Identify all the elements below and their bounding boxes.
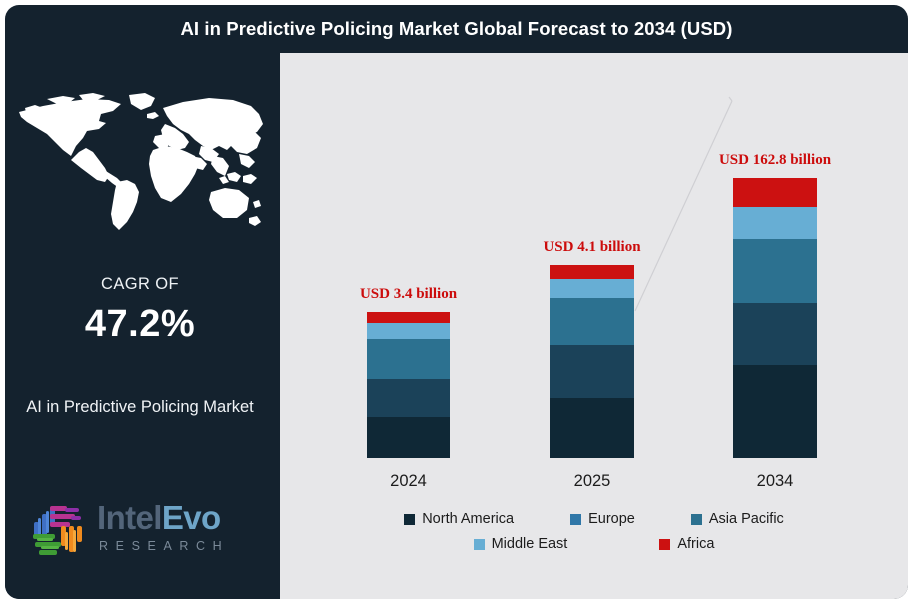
legend-label: Africa	[677, 536, 714, 552]
world-map-icon	[13, 90, 267, 238]
intelevo-pinwheel-logo-icon	[21, 494, 93, 566]
legend-label: Europe	[588, 511, 635, 527]
bar-segment-north-america[interactable]	[550, 398, 634, 458]
cagr-value: 47.2%	[5, 303, 275, 346]
logo: IntelEvo RESEARCH	[19, 490, 267, 570]
legend: North AmericaEuropeAsia PacificMiddle Ea…	[280, 511, 908, 561]
legend-swatch-icon	[570, 514, 581, 525]
logo-wordmark: IntelEvo	[97, 500, 221, 536]
bar-group-2024: USD 3.4 billion2024	[367, 312, 450, 458]
bar-stack	[550, 265, 634, 458]
bar-segment-middle-east[interactable]	[550, 279, 634, 298]
bar-segment-north-america[interactable]	[733, 365, 817, 458]
bar-segment-north-america[interactable]	[367, 417, 450, 458]
logo-word-evo: Evo	[162, 499, 221, 536]
bar-segment-europe[interactable]	[550, 345, 634, 398]
legend-swatch-icon	[474, 539, 485, 550]
page-title: AI in Predictive Policing Market Global …	[5, 18, 908, 40]
legend-swatch-icon	[659, 539, 670, 550]
legend-item-europe[interactable]: Europe	[570, 511, 635, 527]
bar-segment-asia-pacific[interactable]	[367, 339, 450, 379]
bar-segment-middle-east[interactable]	[367, 323, 450, 339]
bar-segment-africa[interactable]	[550, 265, 634, 279]
bar-group-2034: USD 162.8 billion2034	[733, 178, 817, 458]
legend-item-north-america[interactable]: North America	[404, 511, 514, 527]
legend-item-asia-pacific[interactable]: Asia Pacific	[691, 511, 784, 527]
legend-label: Middle East	[492, 536, 568, 552]
legend-row: Middle EastAfrica	[280, 536, 908, 552]
bar-stack	[733, 178, 817, 458]
logo-word-intel: Intel	[97, 499, 162, 536]
x-axis-label: 2025	[574, 472, 611, 491]
legend-item-africa[interactable]: Africa	[659, 536, 714, 552]
bar-segment-africa[interactable]	[733, 178, 817, 207]
sidebar: CAGR OF 47.2% AI in Predictive Policing …	[5, 53, 275, 599]
infographic-frame: AI in Predictive Policing Market Global …	[0, 0, 913, 604]
bar-segment-middle-east[interactable]	[733, 207, 817, 239]
legend-label: Asia Pacific	[709, 511, 784, 527]
bar-segment-asia-pacific[interactable]	[550, 298, 634, 345]
bar-segment-asia-pacific[interactable]	[733, 239, 817, 303]
infographic-card: AI in Predictive Policing Market Global …	[5, 5, 908, 599]
legend-swatch-icon	[691, 514, 702, 525]
bar-value-label: USD 4.1 billion	[543, 239, 640, 256]
logo-tagline: RESEARCH	[99, 539, 229, 553]
bar-segment-europe[interactable]	[367, 379, 450, 417]
chart-panel: USD 3.4 billion2024USD 4.1 billion2025US…	[280, 53, 908, 599]
header: AI in Predictive Policing Market Global …	[5, 5, 908, 53]
legend-item-middle-east[interactable]: Middle East	[474, 536, 568, 552]
sidebar-subtitle: AI in Predictive Policing Market	[19, 394, 261, 421]
bar-value-label: USD 3.4 billion	[360, 286, 457, 303]
bar-group-2025: USD 4.1 billion2025	[550, 265, 634, 458]
x-axis-label: 2034	[757, 472, 794, 491]
cagr-caption: CAGR OF	[5, 275, 275, 294]
x-axis-label: 2024	[390, 472, 427, 491]
bar-segment-europe[interactable]	[733, 303, 817, 365]
bar-value-label: USD 162.8 billion	[719, 152, 831, 169]
legend-row: North AmericaEuropeAsia Pacific	[280, 511, 908, 527]
legend-swatch-icon	[404, 514, 415, 525]
bar-stack	[367, 312, 450, 458]
bar-segment-africa[interactable]	[367, 312, 450, 323]
legend-label: North America	[422, 511, 514, 527]
